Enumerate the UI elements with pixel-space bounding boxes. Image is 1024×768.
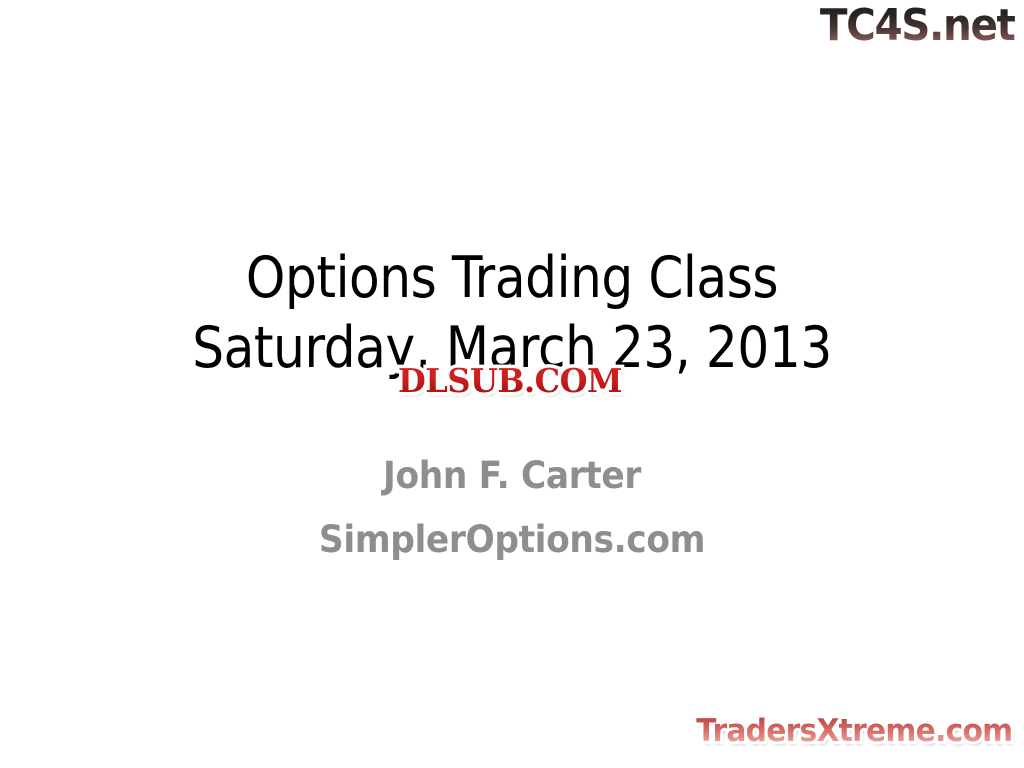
title-line-1: Options Trading Class [61,243,962,313]
tc4s-brand-logo: TC4S.net [820,2,1015,50]
tradersxtreme-brand-logo: TradersXtreme.com TradersXtreme.com [682,712,1012,752]
tradersxtreme-logo-text: TradersXtreme.com [696,712,1012,750]
presenter-name: John F. Carter [36,444,988,508]
presentation-slide: TC4S.net Options Trading Class Saturday,… [0,0,1024,768]
slide-subtitle: John F. Carter SimplerOptions.com [0,444,1024,572]
dlsub-watermark: DLSUB.COM DLSUB.COM [364,360,656,404]
presenter-website: SimplerOptions.com [36,508,988,572]
dlsub-watermark-text: DLSUB.COM [368,360,651,402]
